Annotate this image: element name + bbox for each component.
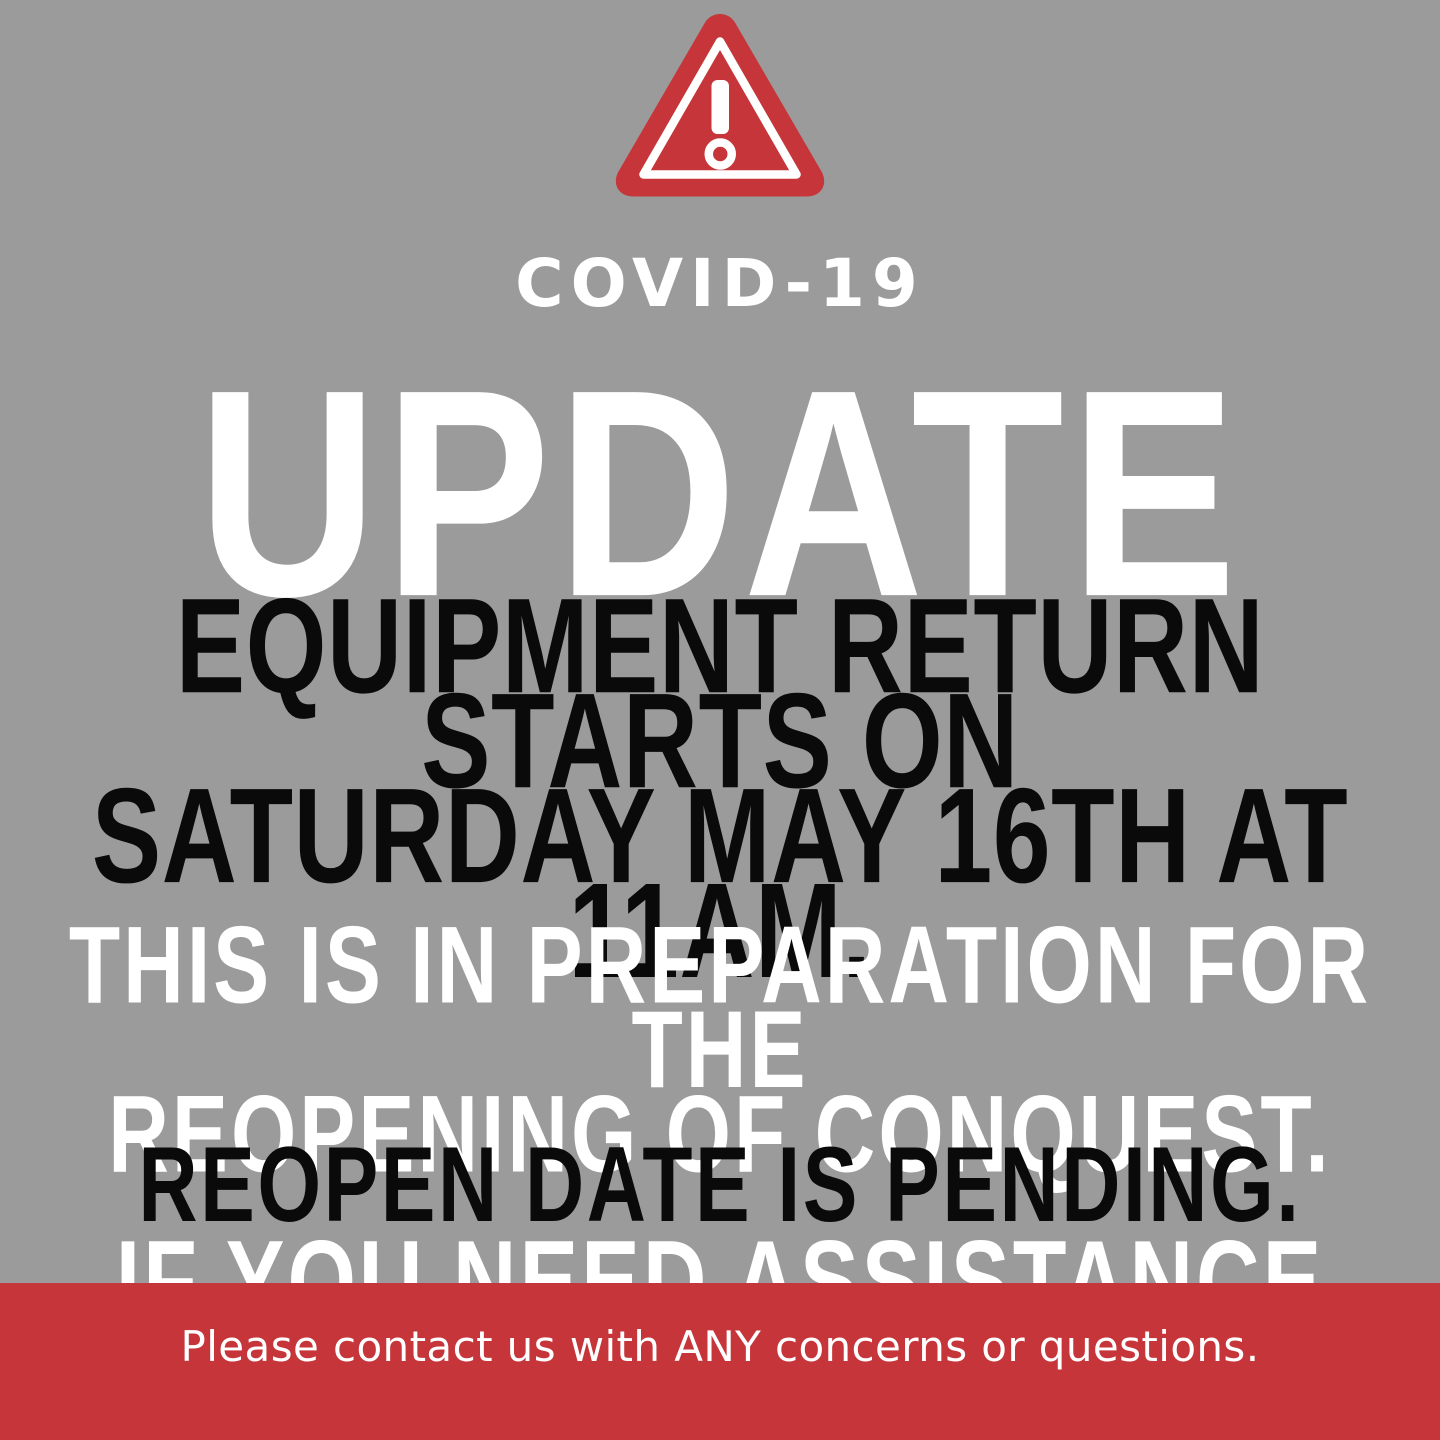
eyebrow-covid-label: COVID-19 [0,249,1440,319]
paragraph-line: THIS IS IN PREPARATION FOR THE [12,923,1428,1092]
footer-band: Please contact us with ANY concerns or q… [0,1283,1440,1440]
warning-icon-container [0,8,1440,203]
warning-triangle-exclamation-icon [612,8,828,198]
covid-update-poster: COVID-19 UPDATE EQUIPMENT RETURN STARTS … [0,0,1440,1440]
footer-contact-text: Please contact us with ANY concerns or q… [0,1324,1440,1370]
